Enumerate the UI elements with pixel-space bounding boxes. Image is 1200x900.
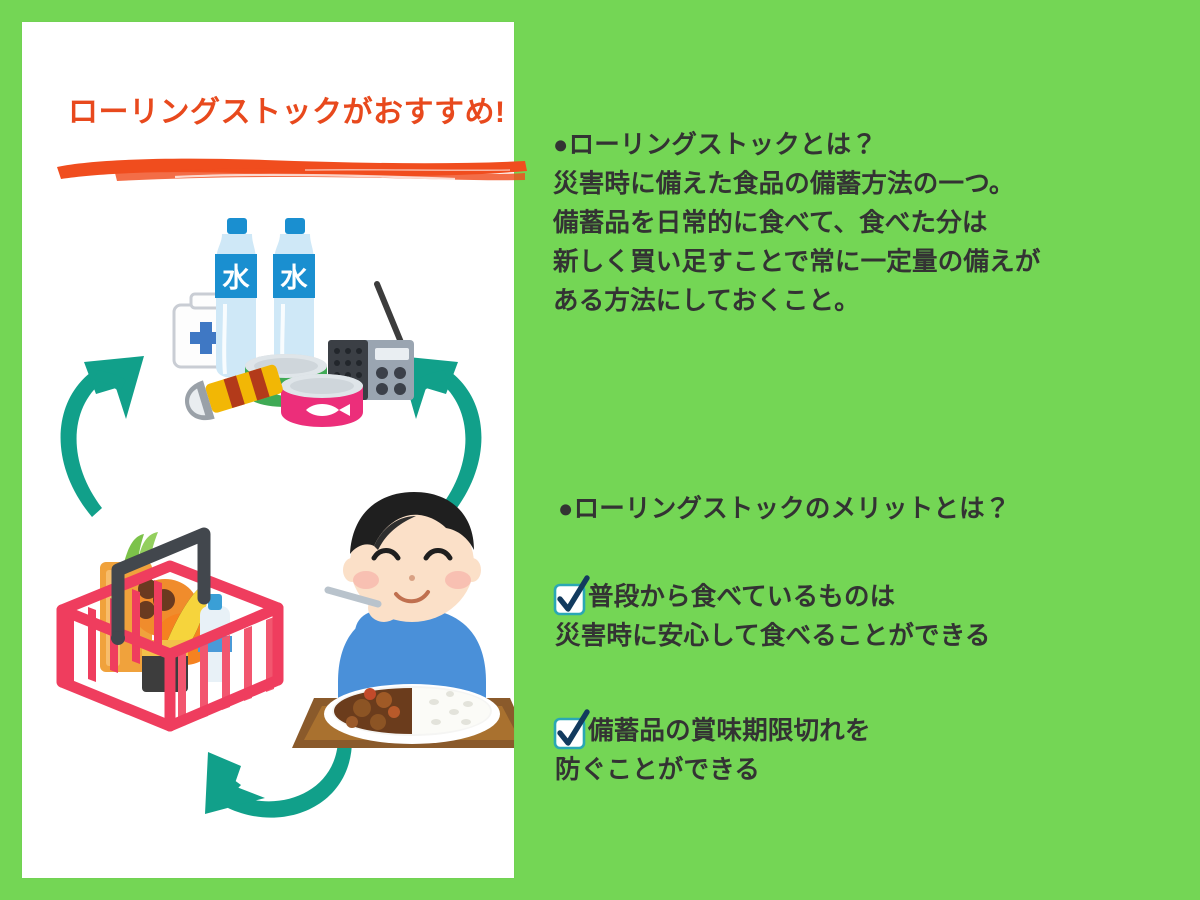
rolling-stock-illustration: 水 水 [22,22,514,878]
merit-1-line-1: 普段から食べているものは [588,578,895,617]
boy-eating-illustration [292,492,514,748]
illustration-card: ローリングストックがおすすめ! [22,22,514,878]
poster-root: ローリングストックがおすすめ! [0,0,1200,900]
what-line-3: 新しく買い足すことで常に一定量の備えが [553,243,1183,282]
right-text-column: ●ローリングストックとは？ 災害時に備えた食品の備蓄方法の一つ。 備蓄品を日常的… [548,0,1188,900]
emergency-stockpile-illustration: 水 水 [174,218,414,427]
shopping-basket-illustration [62,532,278,730]
merit-2-line-1: 備蓄品の賞味期限切れを [588,712,871,751]
svg-text:水: 水 [280,263,309,294]
what-is-block: ●ローリングストックとは？ 災害時に備えた食品の備蓄方法の一つ。 備蓄品を日常的… [553,126,1183,321]
arrow-bottom-icon [205,740,352,818]
merit-heading: ●ローリングストックのメリットとは？ [558,490,1188,529]
water-bottle-icon: 水 [273,218,315,378]
what-line-4: ある方法にしておくこと。 [553,282,1183,321]
what-heading: ●ローリングストックとは？ [553,126,1183,165]
canned-fish-pink-icon [281,374,363,427]
merit-1-line-2: 災害時に安心して食べることができる [555,617,1183,656]
what-line-2: 備蓄品を日常的に食べて、食べた分は [553,204,1183,243]
arrow-left-up-icon [61,356,144,517]
merit-item-2: 備蓄品の賞味期限切れを 防ぐことができる [553,712,1183,790]
checkbox-checked-icon [553,715,587,749]
merit-item-1: 普段から食べているものは 災害時に安心して食べることができる [553,578,1183,656]
svg-text:水: 水 [222,263,251,294]
water-bottle-icon: 水 [215,218,257,378]
what-line-1: 災害時に備えた食品の備蓄方法の一つ。 [553,165,1183,204]
checkbox-checked-icon [553,581,587,615]
merit-2-line-2: 防ぐことができる [555,751,1183,790]
merit-heading-block: ●ローリングストックのメリットとは？ [558,490,1188,529]
